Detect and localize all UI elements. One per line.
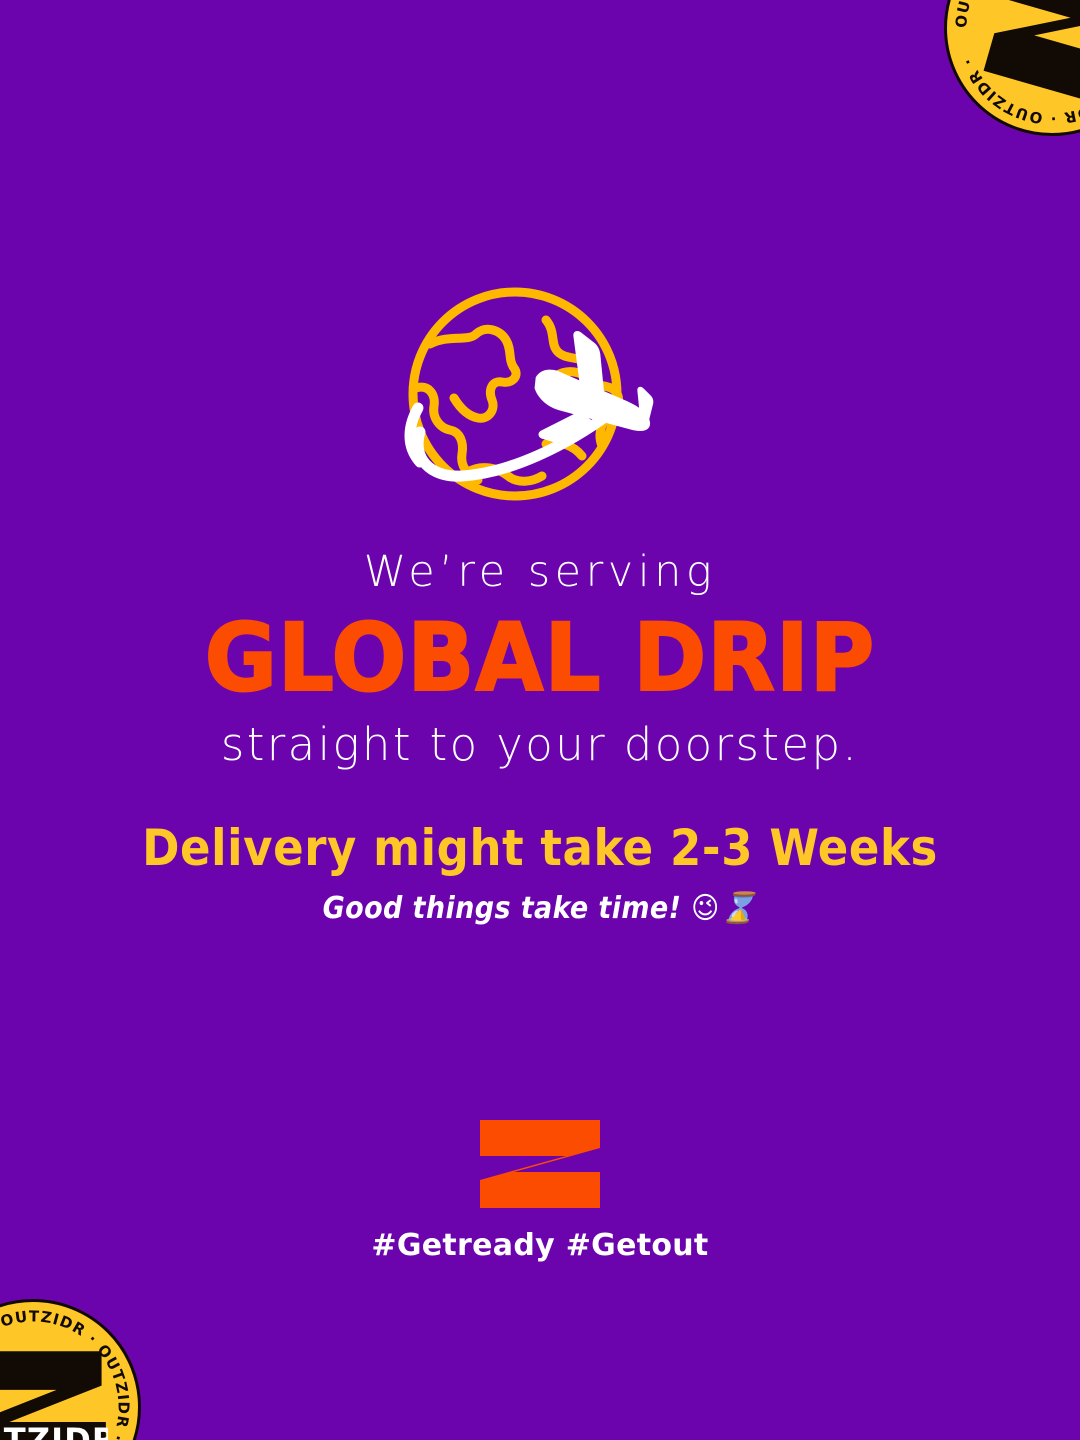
headline-block: We’re serving GLOBAL DRIP straight to yo… <box>0 548 1080 770</box>
outzidr-z-logo <box>478 1118 602 1210</box>
delivery-note: Good things take time! 😉⌛ <box>0 892 1080 925</box>
poster-canvas: OUTZIDR · OUTZIDR · OUTZIDR · OUTZIDR · … <box>0 0 1080 1440</box>
brand-badge-bottom-left: OUTZIDR · OUTZIDR · OUTZIDR · OUTZIDR · … <box>0 1299 141 1440</box>
badge-wordmark: OUTZIDR <box>0 1421 108 1440</box>
eyebrow-text: We’re serving <box>0 548 1080 596</box>
footer-block: #Getready #Getout <box>0 1118 1080 1262</box>
delivery-notice-block: Delivery might take 2-3 Weeks Good thing… <box>0 820 1080 925</box>
page-title: GLOBAL DRIP <box>0 612 1080 706</box>
hashtags-text: #Getready #Getout <box>0 1229 1080 1262</box>
globe-with-airplane-icon <box>350 272 730 522</box>
badge-z-monogram-top-right <box>977 0 1080 103</box>
badge-z-wordmark-bottom-left: OUTZIDR <box>0 1332 108 1440</box>
delivery-headline: Delivery might take 2-3 Weeks <box>0 820 1080 876</box>
brand-badge-top-right: OUTZIDR · OUTZIDR · OUTZIDR · OUTZIDR · … <box>944 0 1080 136</box>
subline-text: straight to your doorstep. <box>0 720 1080 770</box>
